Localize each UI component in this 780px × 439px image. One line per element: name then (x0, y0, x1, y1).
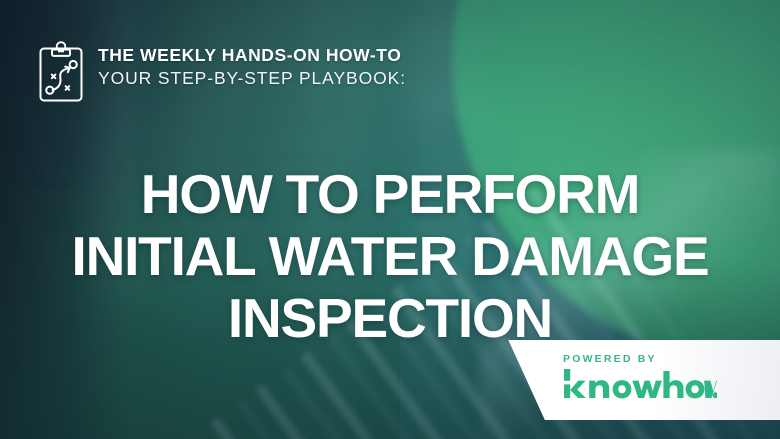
knowhow-logo (563, 369, 717, 399)
eyebrow-line-1: THE WEEKLY HANDS-ON HOW-TO (98, 44, 406, 66)
title-card: THE WEEKLY HANDS-ON HOW-TO YOUR STEP-BY-… (0, 0, 780, 439)
eyebrow-line-2: YOUR STEP-BY-STEP PLAYBOOK: (98, 66, 406, 90)
title-line-3: INSPECTION (14, 287, 766, 349)
clipboard-playbook-icon (36, 40, 86, 104)
title-line-2: INITIAL WATER DAMAGE (14, 225, 766, 287)
powered-by-label: POWERED BY (563, 353, 717, 366)
badge-content: POWERED BY (563, 353, 717, 399)
eyebrow-text-group: THE WEEKLY HANDS-ON HOW-TO YOUR STEP-BY-… (98, 40, 406, 90)
header-block: THE WEEKLY HANDS-ON HOW-TO YOUR STEP-BY-… (36, 40, 406, 104)
page-title: HOW TO PERFORM INITIAL WATER DAMAGE INSP… (0, 163, 780, 349)
title-line-1: HOW TO PERFORM (14, 163, 766, 225)
powered-by-badge: POWERED BY (505, 340, 780, 420)
